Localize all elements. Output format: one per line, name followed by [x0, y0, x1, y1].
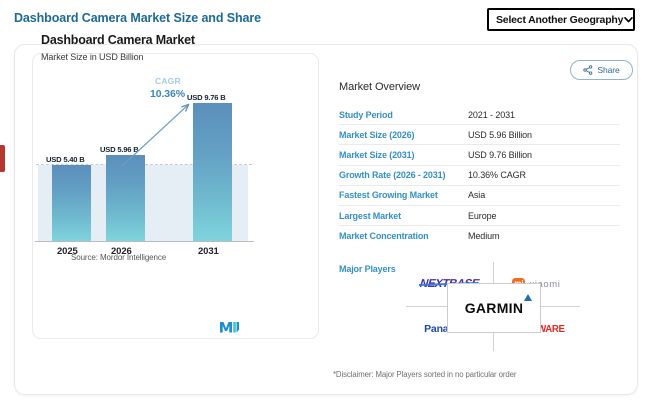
chart-title: Dashboard Camera Market	[41, 33, 195, 47]
chart-x-axis	[35, 241, 254, 242]
chart-plot-area: USD 5.40 B USD 5.96 B USD 9.76 B CAGR 10…	[38, 78, 254, 242]
table-row: Fastest Growing Market Asia	[339, 186, 620, 206]
row-key: Market Concentration	[339, 231, 468, 241]
major-players-label: Major Players	[339, 264, 396, 274]
row-value: Asia	[468, 190, 620, 200]
table-row: Growth Rate (2026 - 2031) 10.36% CAGR	[339, 166, 620, 186]
row-value: 10.36% CAGR	[468, 170, 620, 180]
market-overview-table: Study Period 2021 - 2031 Market Size (20…	[339, 105, 620, 246]
disclaimer-text: *Disclaimer: Major Players sorted in no …	[333, 370, 516, 379]
row-value: Europe	[468, 211, 620, 221]
page-root: Dashboard Camera Market Size and Share S…	[0, 0, 652, 410]
table-row: Market Size (2026) USD 5.96 Billion	[339, 125, 620, 145]
chart-subtitle: Market Size in USD Billion	[41, 52, 143, 62]
row-key: Growth Rate (2026 - 2031)	[339, 170, 468, 180]
share-button[interactable]: Share	[570, 60, 633, 80]
geography-select-label: Select Another Geography	[496, 14, 623, 26]
table-row: Market Concentration Medium	[339, 226, 620, 246]
table-row: Market Size (2031) USD 9.76 Billion	[339, 145, 620, 165]
chevron-down-icon	[623, 14, 634, 25]
x-tick-2031: 2031	[198, 246, 219, 257]
market-overview-title: Market Overview	[339, 81, 420, 93]
row-value: USD 5.96 Billion	[468, 130, 620, 140]
major-players-logo-grid: NEXTBASE mi xiaomi Panasonic THINKWARE G…	[406, 262, 580, 351]
chart-source: Source: Mordor Intelligence	[71, 253, 166, 262]
player-cell-garmin: GARMIN	[447, 283, 541, 333]
left-edge-tab[interactable]	[0, 145, 5, 172]
row-key: Market Size (2026)	[339, 130, 468, 140]
page-title: Dashboard Camera Market Size and Share	[14, 11, 261, 25]
row-value: Medium	[468, 231, 620, 241]
row-key: Study Period	[339, 110, 468, 120]
share-nodes-icon	[583, 65, 593, 75]
garmin-logo: GARMIN	[465, 300, 524, 316]
table-row: Study Period 2021 - 2031	[339, 105, 620, 125]
garmin-triangle-icon	[524, 294, 532, 301]
table-row: Largest Market Europe	[339, 206, 620, 226]
row-key: Market Size (2031)	[339, 150, 468, 160]
cagr-arrow-icon	[38, 78, 254, 242]
geography-select[interactable]: Select Another Geography	[487, 8, 635, 31]
row-key: Largest Market	[339, 211, 468, 221]
share-button-label: Share	[597, 65, 619, 75]
row-value: 2021 - 2031	[468, 110, 620, 120]
row-value: USD 9.76 Billion	[468, 150, 620, 160]
mordor-intelligence-logo	[218, 320, 240, 334]
row-key: Fastest Growing Market	[339, 190, 468, 200]
